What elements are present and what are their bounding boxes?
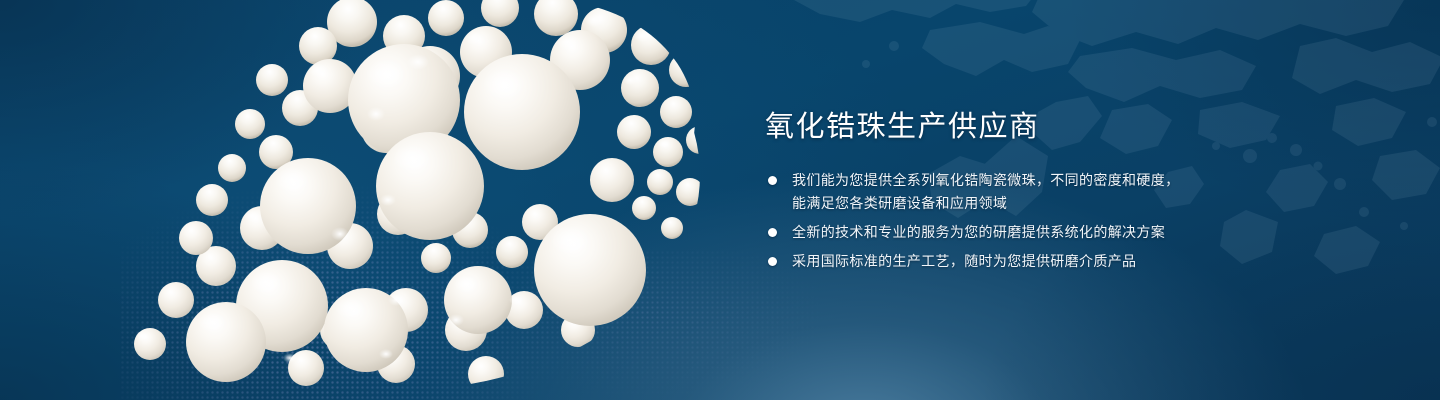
- bullet-dot-icon: [768, 176, 777, 185]
- list-item-line1: 全新的技术和专业的服务为您的研磨提供系统化的解决方案: [792, 224, 1165, 240]
- hero-banner: 氧化锆珠生产供应商 我们能为您提供全系列氧化锆陶瓷微珠，不同的密度和硬度， 能满…: [0, 0, 1440, 400]
- bullet-dot-icon: [768, 228, 777, 237]
- list-item-line1: 我们能为您提供全系列氧化锆陶瓷微珠，不同的密度和硬度，: [792, 172, 1179, 188]
- list-item-line1: 采用国际标准的生产工艺，随时为您提供研磨介质产品: [792, 253, 1136, 269]
- list-item: 采用国际标准的生产工艺，随时为您提供研磨介质产品: [765, 250, 1235, 273]
- list-item-line2: 能满足您各类研磨设备和应用领域: [792, 192, 1235, 215]
- list-item: 全新的技术和专业的服务为您的研磨提供系统化的解决方案: [765, 221, 1235, 244]
- page-title: 氧化锆珠生产供应商: [765, 108, 1235, 146]
- feature-list: 我们能为您提供全系列氧化锆陶瓷微珠，不同的密度和硬度， 能满足您各类研磨设备和应…: [765, 169, 1235, 273]
- banner-copy: 氧化锆珠生产供应商 我们能为您提供全系列氧化锆陶瓷微珠，不同的密度和硬度， 能满…: [765, 108, 1235, 273]
- bullet-dot-icon: [768, 257, 777, 266]
- list-item: 我们能为您提供全系列氧化锆陶瓷微珠，不同的密度和硬度， 能满足您各类研磨设备和应…: [765, 169, 1235, 215]
